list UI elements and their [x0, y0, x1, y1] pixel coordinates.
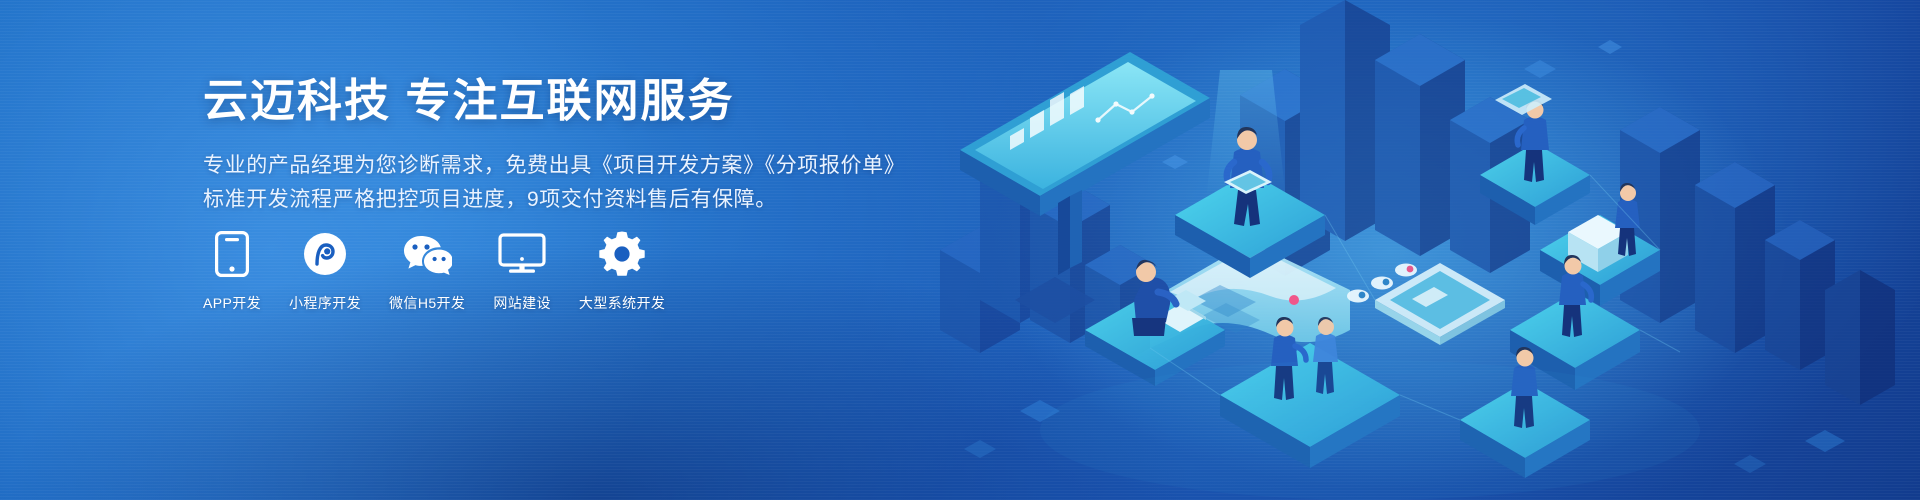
page-title: 云迈科技 专注互联网服务	[203, 74, 963, 127]
service-label: 小程序开发	[289, 293, 361, 313]
service-label: 大型系统开发	[579, 293, 665, 313]
service-label: 网站建设	[493, 293, 551, 313]
isometric-illustration	[920, 0, 1920, 500]
service-list: APP开发 小程序开发	[203, 228, 665, 313]
service-item-app[interactable]: APP开发	[203, 228, 261, 313]
wechat-chat-icon	[401, 228, 453, 280]
service-item-wechat-h5[interactable]: 微信H5开发	[389, 228, 465, 313]
hero-banner: 云迈科技 专注互联网服务 专业的产品经理为您诊断需求，免费出具《项目开发方案》《…	[0, 0, 1920, 500]
service-label: APP开发	[203, 293, 261, 313]
hero-copy: 云迈科技 专注互联网服务 专业的产品经理为您诊断需求，免费出具《项目开发方案》《…	[203, 74, 963, 217]
gear-icon	[596, 228, 648, 280]
service-label: 微信H5开发	[389, 293, 465, 313]
subtitle-line-1: 专业的产品经理为您诊断需求，免费出具《项目开发方案》《分项报价单》	[203, 149, 963, 183]
service-item-mini-program[interactable]: 小程序开发	[289, 228, 361, 313]
subtitle-line-2: 标准开发流程严格把控项目进度，9项交付资料售后有保障。	[203, 183, 963, 217]
service-item-website[interactable]: 网站建设	[493, 228, 551, 313]
service-item-large-system[interactable]: 大型系统开发	[579, 228, 665, 313]
mini-program-icon	[299, 228, 351, 280]
mobile-phone-icon	[206, 228, 258, 280]
desktop-monitor-icon	[496, 228, 548, 280]
